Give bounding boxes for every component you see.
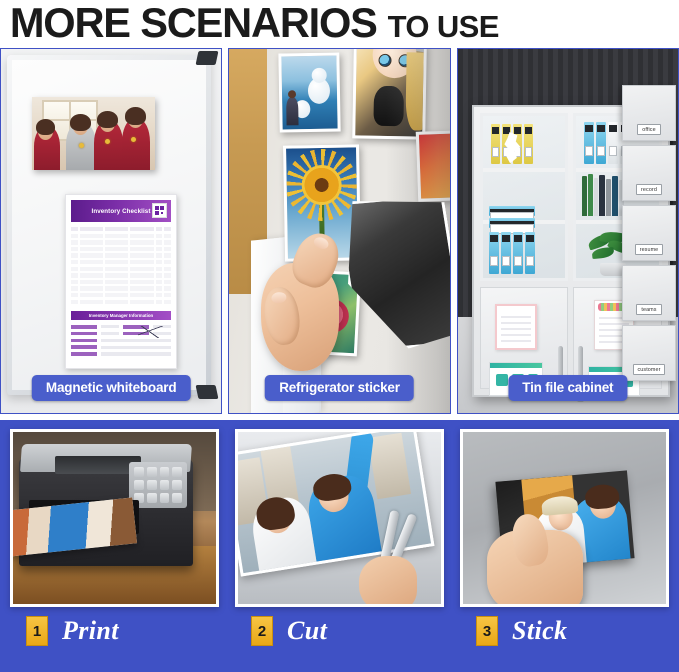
- infographic-page: MORE SCENARIOS TO USE: [0, 0, 679, 672]
- inventory-checklist-document: Inventory Checklist: [65, 194, 177, 369]
- drawer-label: resume: [635, 244, 664, 255]
- scenario-card-tin-file-cabinet[interactable]: office record resume teams customer: [457, 48, 679, 414]
- field-row: [71, 339, 171, 342]
- hand-holding-magnet: [487, 518, 603, 607]
- step-footer-print: 1 Print: [10, 607, 219, 646]
- drawer-resume[interactable]: resume: [622, 205, 676, 261]
- scenario-caption-magnetic-whiteboard: Magnetic whiteboard: [32, 375, 190, 401]
- steps-section: 1 Print: [0, 420, 679, 672]
- lower-door-left: [480, 287, 569, 389]
- table-row: [71, 292, 171, 299]
- scenario-row: Inventory Checklist: [0, 48, 679, 414]
- table-row: [71, 266, 171, 273]
- step-number-badge: 3: [476, 616, 498, 646]
- document-title: Inventory Checklist: [92, 208, 151, 215]
- step-photo-stick: [460, 429, 669, 607]
- drawer-record[interactable]: record: [622, 145, 676, 201]
- checklist-table: [71, 226, 171, 305]
- table-row: [71, 239, 171, 246]
- table-row: [71, 252, 171, 259]
- scenario-caption-refrigerator-sticker: Refrigerator sticker: [265, 375, 414, 401]
- document-subheader: Inventory Manager Information: [71, 311, 171, 320]
- step-card-stick[interactable]: 3 Stick: [460, 429, 669, 646]
- document-subheader-text: Inventory Manager Information: [89, 313, 153, 318]
- hand-holding-scissors: [359, 556, 417, 607]
- hand-peeling-magnet: [255, 227, 365, 379]
- step-label: Print: [62, 616, 119, 646]
- qr-code-icon: [152, 203, 167, 218]
- winter-photo-figure: [286, 97, 298, 125]
- table-row: [71, 246, 171, 253]
- field-row: [71, 345, 171, 348]
- signature-mark: [138, 326, 164, 338]
- drawer-label: customer: [633, 364, 666, 375]
- step-footer-stick: 3 Stick: [460, 607, 669, 646]
- document-header: Inventory Checklist: [71, 200, 171, 222]
- table-header-row: [71, 226, 171, 233]
- pink-note-magnet: [495, 304, 537, 350]
- table-row: [71, 285, 171, 292]
- step-number-badge: 1: [26, 616, 48, 646]
- drawer-label: record: [636, 184, 662, 195]
- whiteboard-corner-bottom-right: [196, 385, 219, 399]
- drawer-label: office: [637, 124, 660, 135]
- step-label: Stick: [512, 616, 567, 646]
- whiteboard-scene: Inventory Checklist: [1, 49, 221, 413]
- scenario-caption-tin-file-cabinet: Tin file cabinet: [508, 375, 627, 401]
- glass-door-left: [480, 113, 569, 281]
- step-photo-print: [10, 429, 219, 607]
- field-row: [71, 352, 171, 355]
- drawer-office[interactable]: office: [622, 85, 676, 141]
- step-photo-cut: [235, 429, 444, 607]
- table-row: [71, 279, 171, 286]
- winter-photo-magnet: [279, 52, 341, 132]
- page-title: MORE SCENARIOS TO USE: [0, 0, 679, 44]
- table-row: [71, 299, 171, 306]
- step-number-badge: 2: [251, 616, 273, 646]
- scenario-card-magnetic-whiteboard[interactable]: Inventory Checklist: [0, 48, 222, 414]
- step-footer-cut: 2 Cut: [235, 607, 444, 646]
- drawer-customer[interactable]: customer: [622, 325, 676, 381]
- title-sub-text: TO USE: [388, 11, 499, 43]
- title-main-text: MORE SCENARIOS: [10, 3, 377, 43]
- table-row: [71, 272, 171, 279]
- table-row: [71, 233, 171, 240]
- table-row: [71, 259, 171, 266]
- step-card-cut[interactable]: 2 Cut: [235, 429, 444, 646]
- step-label: Cut: [287, 616, 327, 646]
- cabinet-drawer-stack: office record resume teams customer: [620, 85, 676, 395]
- step-card-print[interactable]: 1 Print: [10, 429, 219, 646]
- scenario-card-refrigerator-sticker[interactable]: Refrigerator sticker: [228, 48, 450, 414]
- file-cabinet-scene: office record resume teams customer: [458, 49, 678, 413]
- team-photo-magnet: [32, 97, 155, 170]
- refrigerator-scene: [229, 49, 449, 413]
- drawer-label: teams: [636, 304, 661, 315]
- whiteboard-corner-top-right: [196, 51, 219, 65]
- scissors: [357, 510, 435, 606]
- drawer-teams[interactable]: teams: [622, 265, 676, 321]
